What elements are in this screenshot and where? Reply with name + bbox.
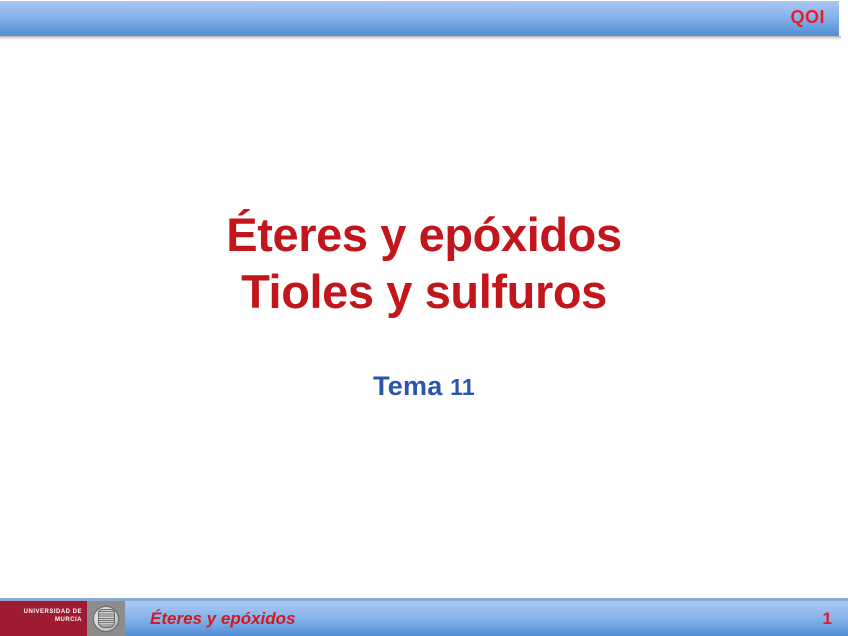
university-logo-line-2: MURCIA bbox=[24, 616, 82, 624]
title-line-2: Tioles y sulfuros bbox=[0, 263, 848, 320]
university-seal-icon bbox=[93, 605, 120, 632]
footer-band bbox=[0, 601, 848, 636]
university-logo-text: UNIVERSIDAD DE MURCIA bbox=[24, 608, 82, 624]
subtitle-label: Tema bbox=[373, 371, 442, 401]
footer-page-number: 1 bbox=[823, 601, 832, 636]
subtitle-text: Tema 11 bbox=[0, 371, 848, 402]
university-logo-block: UNIVERSIDAD DE MURCIA bbox=[0, 601, 87, 636]
slide-content: Éteres y epóxidos Tioles y sulfuros Tema… bbox=[0, 41, 848, 597]
footer-section-title: Éteres y epóxidos bbox=[150, 601, 296, 636]
university-logo-line-1: UNIVERSIDAD DE bbox=[24, 608, 82, 616]
course-code-label: QOI bbox=[790, 3, 825, 31]
slide-canvas: QOI Éteres y epóxidos Tioles y sulfuros … bbox=[0, 0, 848, 636]
slide-title: Éteres y epóxidos Tioles y sulfuros bbox=[0, 206, 848, 320]
subtitle-number: 11 bbox=[450, 374, 475, 400]
header-band: QOI bbox=[0, 1, 839, 36]
university-seal-block bbox=[87, 601, 125, 636]
footer-bar: UNIVERSIDAD DE MURCIA Éteres y epóxidos … bbox=[0, 598, 848, 636]
slide-subtitle: Tema 11 bbox=[0, 371, 848, 402]
title-line-1: Éteres y epóxidos bbox=[0, 206, 848, 263]
seal-inner-detail bbox=[98, 609, 115, 628]
